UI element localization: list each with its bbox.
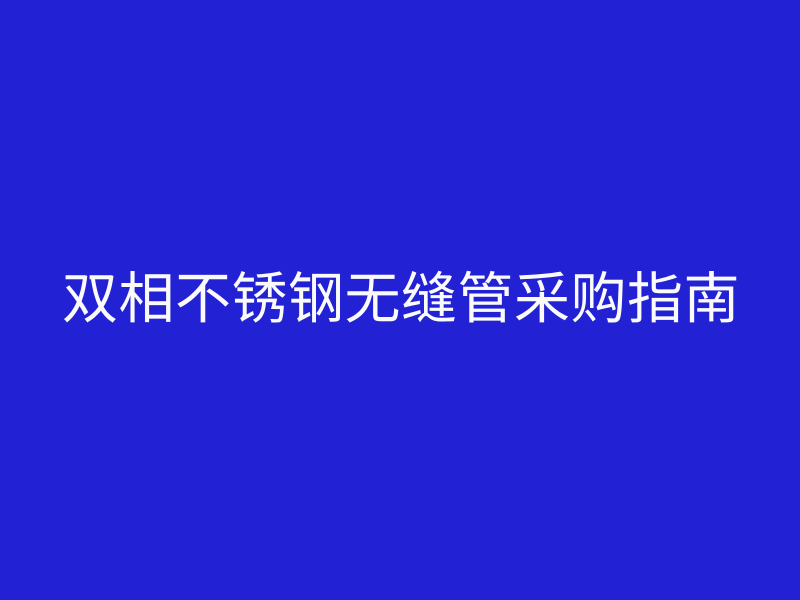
page-title: 双相不锈钢无缝管采购指南 [0,267,740,333]
headline-block: 双相不锈钢无缝管采购指南 [0,0,800,600]
title-card: 双相不锈钢无缝管采购指南 [0,0,800,600]
